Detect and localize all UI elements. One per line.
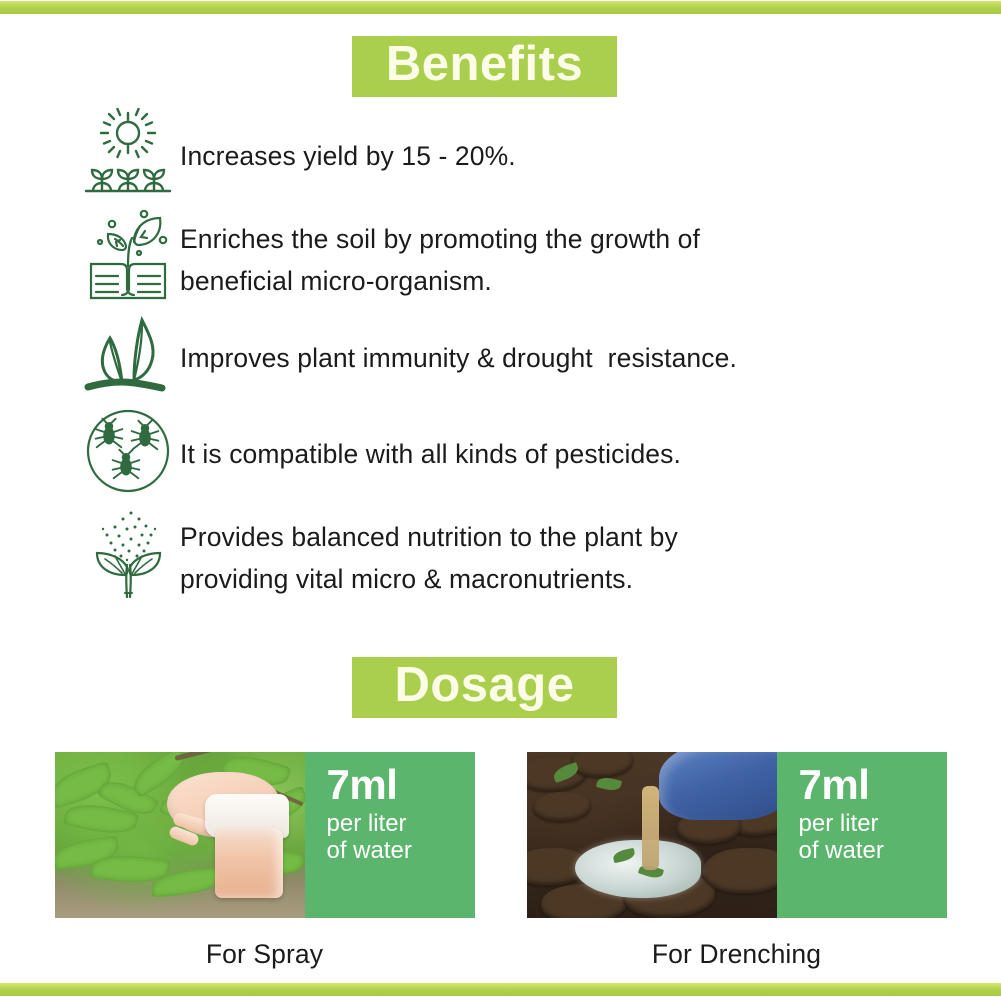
two-leaves-on-ground-icon: [76, 311, 180, 399]
product-info-panel: Benefits: [0, 0, 1001, 1001]
benefit-text: Enriches the soil by promoting the growt…: [180, 206, 936, 303]
benefit-item: Increases yield by 15 - 20%.: [76, 104, 936, 198]
dosage-section-title: Dosage: [352, 657, 617, 718]
benefits-title-text: Benefits: [386, 40, 583, 89]
benefit-item: It is compatible with all kinds of pesti…: [76, 407, 936, 495]
dosage-unit-line-2: of water: [327, 838, 475, 865]
dosage-amount-panel: 7ml per liter of water: [305, 752, 475, 918]
benefit-item: Provides balanced nutrition to the plant…: [76, 503, 936, 603]
dosage-amount: 7ml: [799, 764, 947, 806]
dosage-band: 7ml per liter of water: [55, 752, 475, 918]
benefit-item: Enriches the soil by promoting the growt…: [76, 206, 936, 303]
plant-in-soil-icon: [76, 206, 180, 302]
benefit-text: Increases yield by 15 - 20%.: [180, 104, 936, 178]
benefit-text: It is compatible with all kinds of pesti…: [180, 407, 936, 476]
benefits-list: Increases yield by 15 - 20%.: [76, 104, 936, 611]
dosage-card-drenching: 7ml per liter of water For Drenching: [527, 752, 947, 970]
nutrients-sprinkle-sprout-icon: [76, 503, 180, 603]
blue-watering-can-drenching-soil-photo: [527, 752, 777, 918]
dosage-unit-line-1: per liter: [327, 811, 475, 838]
dosage-caption: For Drenching: [527, 939, 947, 970]
bugs-in-circle-icon: [76, 407, 180, 495]
benefit-text: Improves plant immunity & drought resist…: [180, 311, 936, 380]
benefits-section-title: Benefits: [352, 36, 617, 97]
top-accent-rule: [0, 1, 1001, 14]
dosage-amount: 7ml: [327, 764, 475, 806]
dosage-band: 7ml per liter of water: [527, 752, 947, 918]
dosage-card-row: 7ml per liter of water For Spray: [0, 752, 1001, 970]
dosage-unit-line-1: per liter: [799, 811, 947, 838]
dosage-caption: For Spray: [55, 939, 475, 970]
dosage-title-text: Dosage: [394, 661, 574, 710]
hand-with-spray-bottle-on-green-plants-photo: [55, 752, 305, 918]
dosage-card-spray: 7ml per liter of water For Spray: [55, 752, 475, 970]
dosage-amount-panel: 7ml per liter of water: [777, 752, 947, 918]
benefit-text: Provides balanced nutrition to the plant…: [180, 503, 936, 601]
dosage-unit-line-2: of water: [799, 838, 947, 865]
sun-over-seedlings-icon: [76, 104, 180, 198]
bottom-accent-rule: [0, 983, 1001, 996]
benefit-item: Improves plant immunity & drought resist…: [76, 311, 936, 399]
